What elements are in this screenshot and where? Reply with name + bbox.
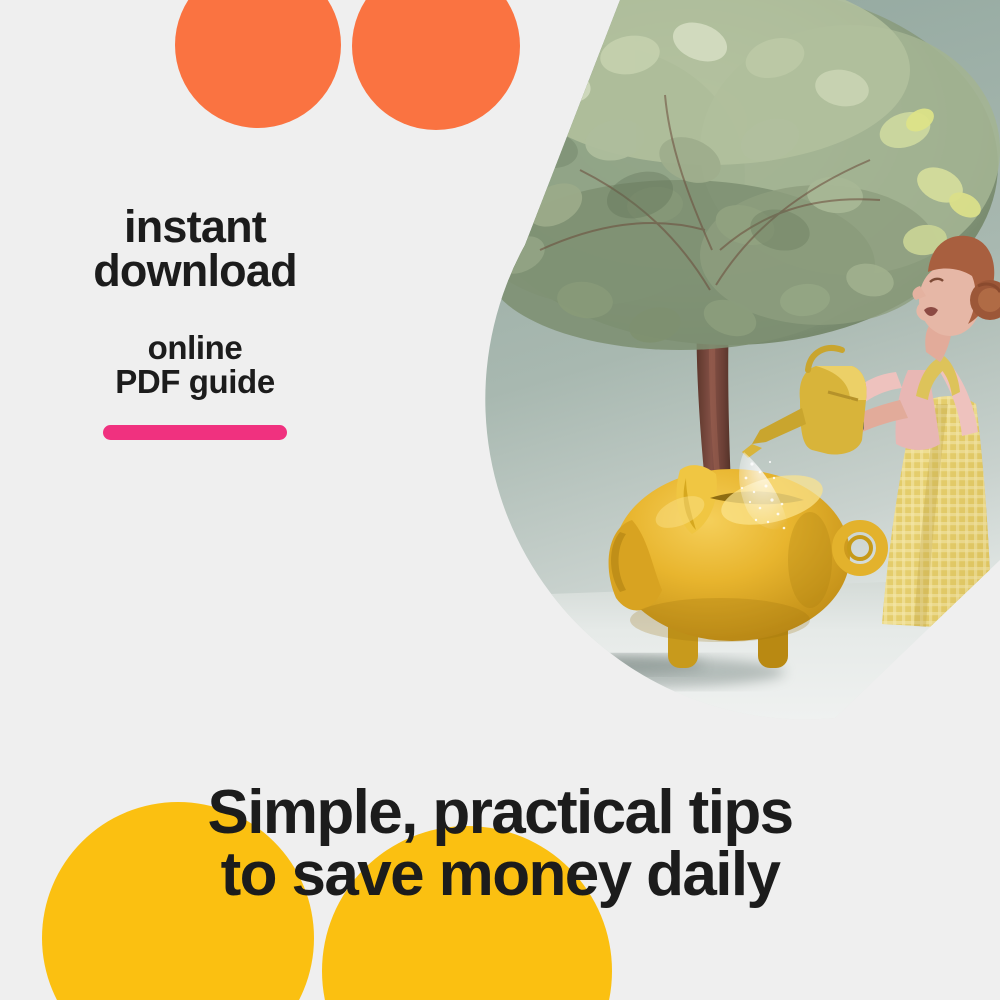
promo-copy-block: instant download online PDF guide [30,205,360,440]
hero-photo-illustration [380,0,1000,730]
page-title: Simple, practical tips to save money dai… [0,782,1000,906]
poster-canvas: instant download online PDF guide Simple… [0,0,1000,1000]
orange-circle-top-left [175,0,341,128]
sub-line-2: PDF guide [30,365,360,399]
subheading: online PDF guide [30,331,360,398]
sub-line-1: online [30,331,360,365]
kicker-line-2: download [30,249,360,293]
hero-photo [380,0,1000,730]
kicker-heading: instant download [30,205,360,293]
headline-line-2: to save money daily [0,844,1000,906]
pink-accent-bar [103,425,287,440]
headline-line-1: Simple, practical tips [0,782,1000,844]
kicker-line-1: instant [30,205,360,249]
